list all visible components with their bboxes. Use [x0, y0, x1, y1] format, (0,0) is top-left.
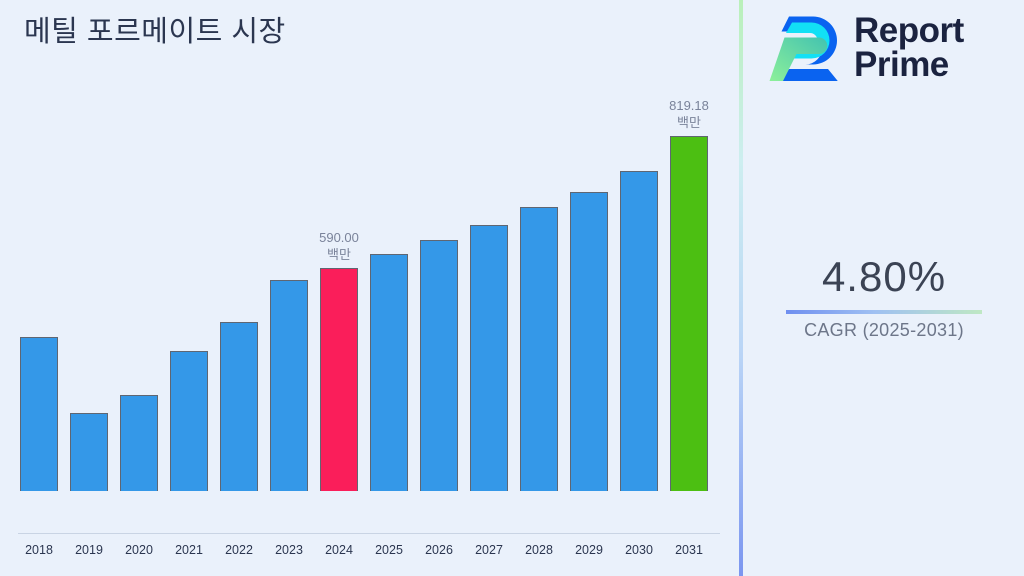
x-tick-2029: 2029	[564, 543, 614, 557]
x-tick-2023: 2023	[264, 543, 314, 557]
bar-2030[interactable]	[620, 171, 658, 491]
panel-divider	[739, 0, 743, 576]
x-tick-2025: 2025	[364, 543, 414, 557]
cagr-divider-rule	[786, 310, 982, 314]
x-tick-2027: 2027	[464, 543, 514, 557]
x-tick-2024: 2024	[314, 543, 364, 557]
bar-value-2031: 819.18	[669, 97, 709, 114]
bar-2029[interactable]	[570, 192, 608, 491]
x-tick-2026: 2026	[414, 543, 464, 557]
report-prime-logo[interactable]: Report Prime	[766, 12, 964, 84]
x-tick-2030: 2030	[614, 543, 664, 557]
bar-value-label-2031: 819.18백만	[669, 97, 709, 131]
bar-2020[interactable]	[120, 395, 158, 491]
bar-2028[interactable]	[520, 207, 558, 491]
x-tick-2028: 2028	[514, 543, 564, 557]
cagr-block: 4.80% CAGR (2025-2031)	[744, 252, 1024, 341]
bar-2022[interactable]	[220, 322, 258, 491]
bar-chart-plot-area: 590.00백만819.18백만	[0, 0, 740, 534]
x-tick-2031: 2031	[664, 543, 714, 557]
bar-2023[interactable]	[270, 280, 308, 491]
bar-2019[interactable]	[70, 413, 108, 491]
info-panel: Report Prime 4.80% CAGR (2025-2031)	[744, 0, 1024, 576]
bar-value-2024: 590.00	[319, 229, 359, 246]
bar-2024[interactable]	[320, 268, 358, 491]
bar-2026[interactable]	[420, 240, 458, 491]
logo-line-2: Prime	[854, 48, 964, 82]
bar-2018[interactable]	[20, 337, 58, 491]
x-tick-2022: 2022	[214, 543, 264, 557]
x-tick-2018: 2018	[14, 543, 64, 557]
logo-line-1: Report	[854, 14, 964, 48]
cagr-caption: CAGR (2025-2031)	[744, 320, 1024, 341]
bar-value-unit-2024: 백만	[319, 246, 359, 263]
chart-panel: 메틸 포르메이트 시장 590.00백만819.18백만 20182019202…	[0, 0, 740, 576]
bar-value-unit-2031: 백만	[669, 114, 709, 131]
report-prime-logo-mark	[766, 12, 842, 84]
x-axis-line	[18, 533, 720, 534]
bar-2031[interactable]	[670, 136, 708, 491]
bar-2021[interactable]	[170, 351, 208, 491]
bar-value-label-2024: 590.00백만	[319, 229, 359, 263]
bar-2027[interactable]	[470, 225, 508, 491]
x-tick-2019: 2019	[64, 543, 114, 557]
cagr-value: 4.80%	[744, 252, 1024, 302]
report-prime-wordmark: Report Prime	[854, 14, 964, 83]
x-tick-2020: 2020	[114, 543, 164, 557]
x-tick-2021: 2021	[164, 543, 214, 557]
bar-2025[interactable]	[370, 254, 408, 491]
